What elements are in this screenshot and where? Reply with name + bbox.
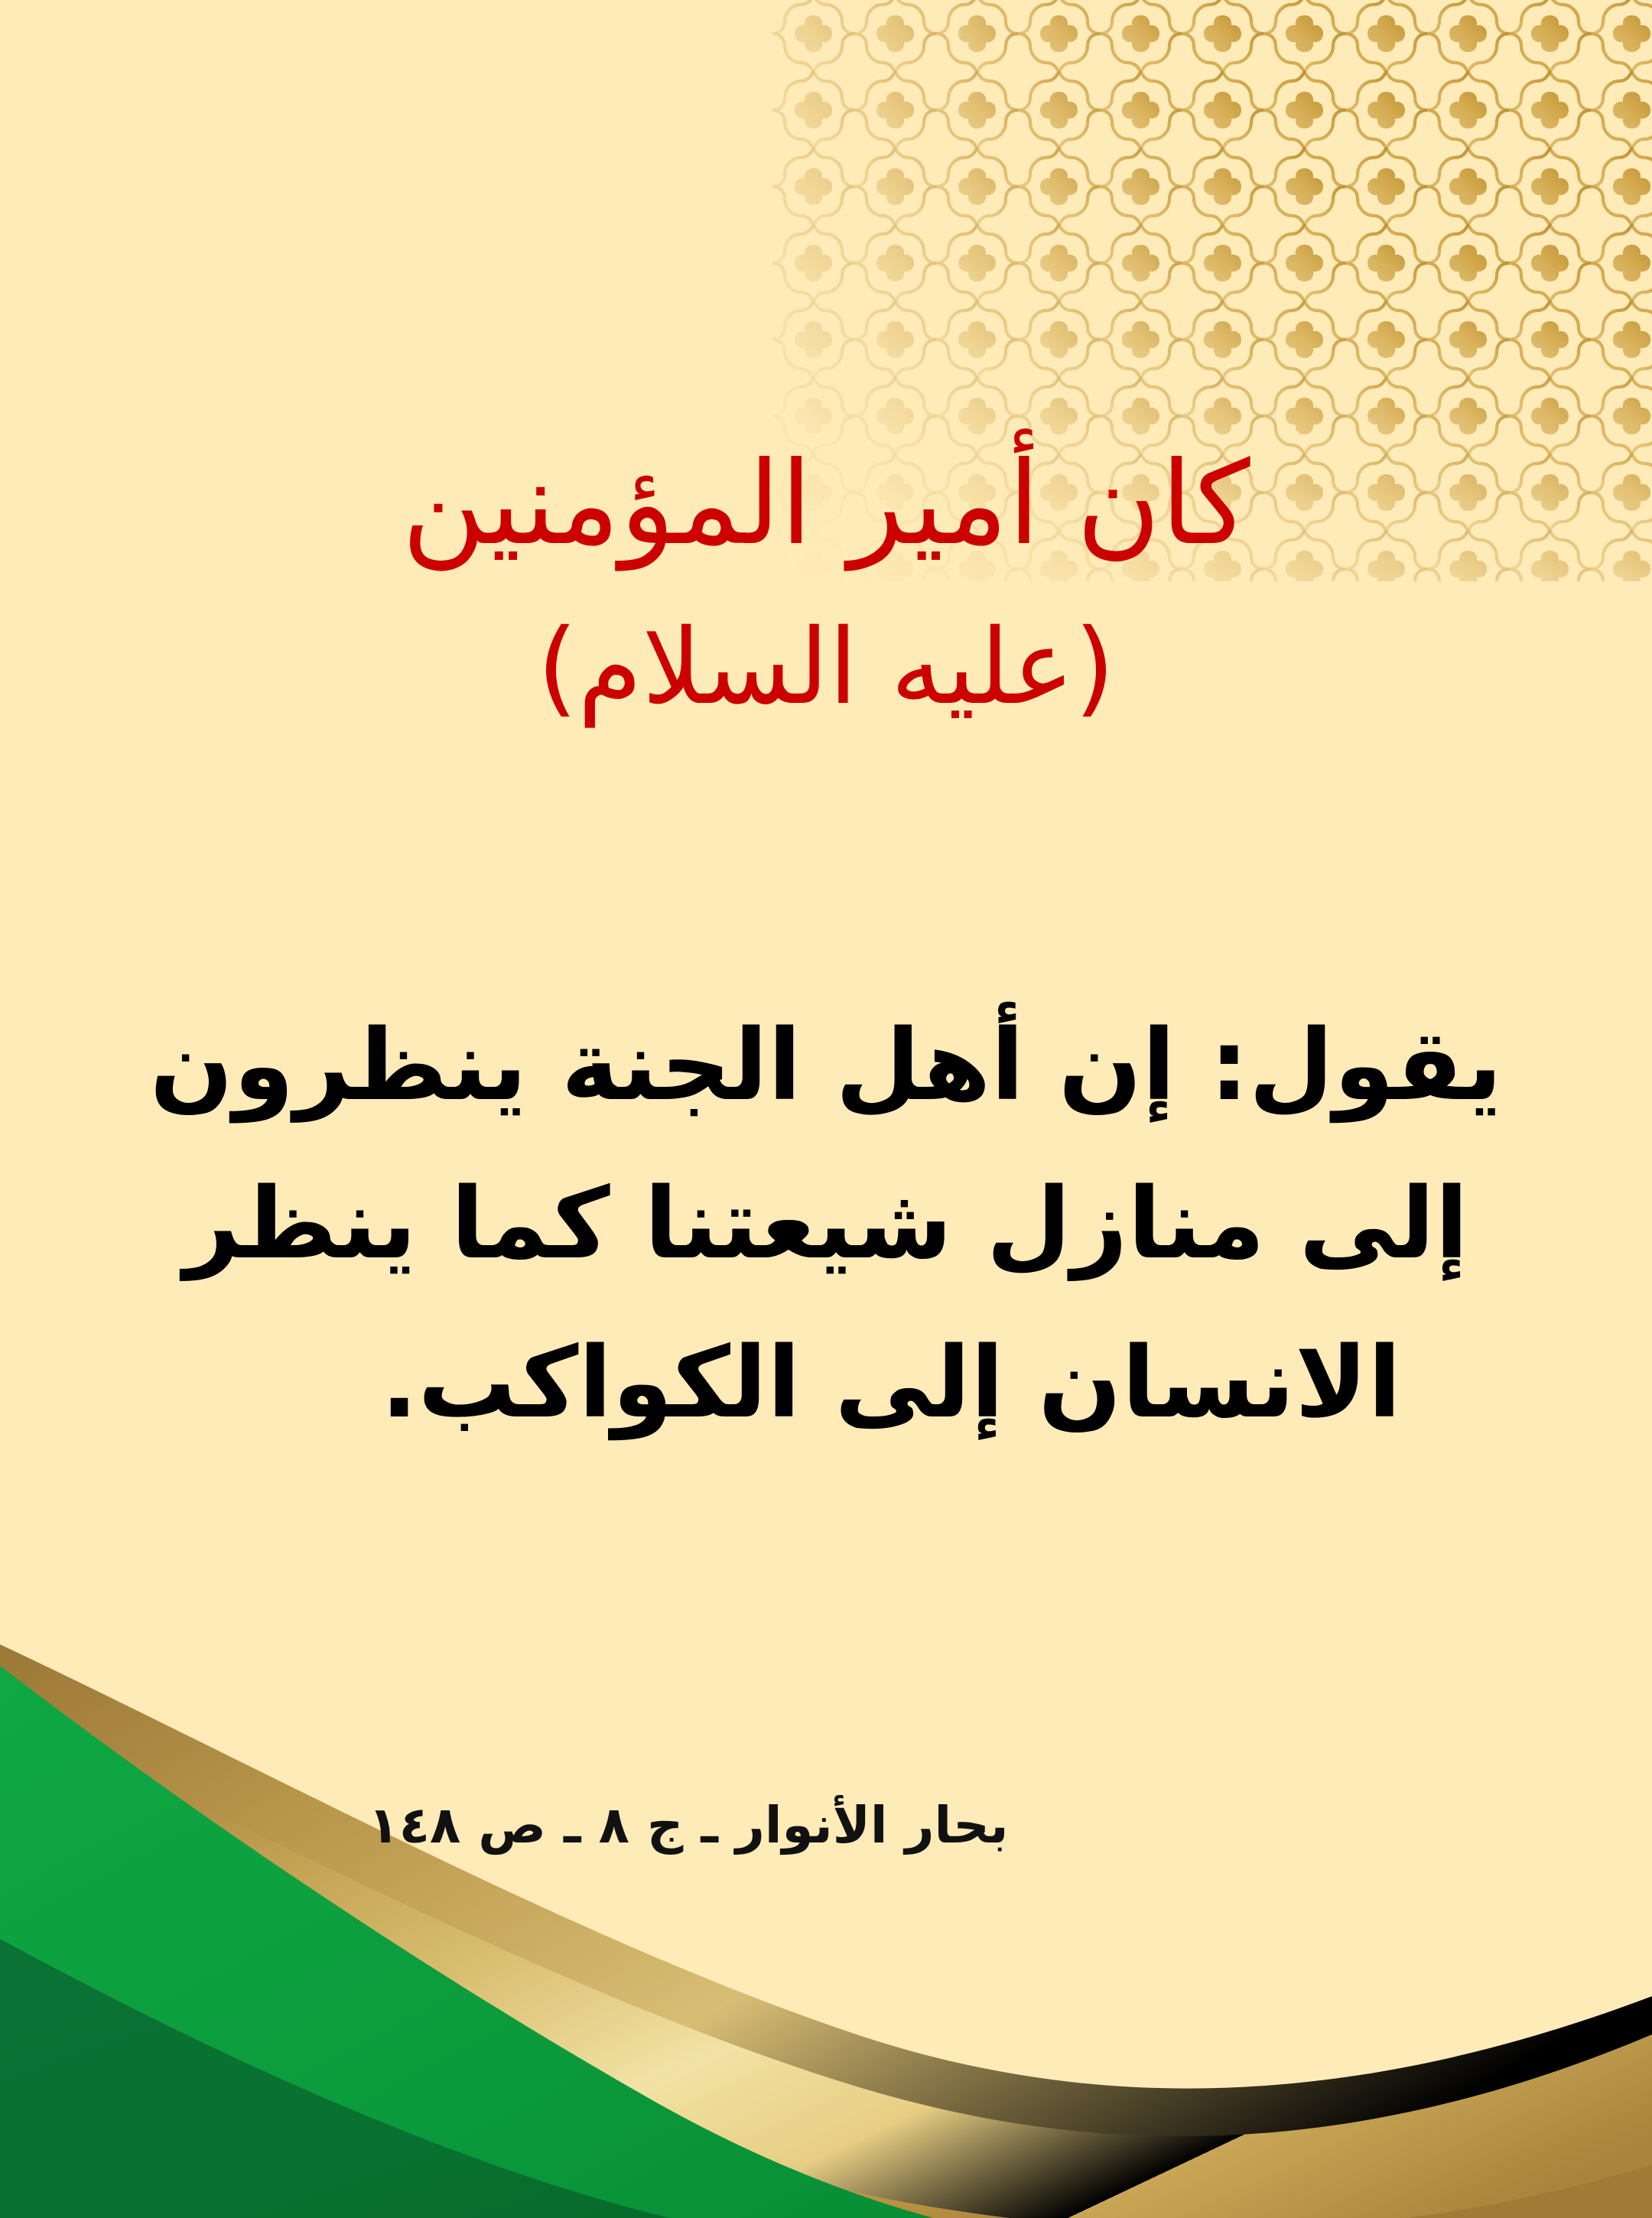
hadith-line-1: يقول: إن أهل الجنة ينظرون (84, 987, 1568, 1145)
hadith-line-2: إلى منازل شيعتنا كما ينظر (84, 1145, 1568, 1303)
heading-line-2: (عليه السلام) (0, 600, 1652, 737)
hadith-body-text: يقول: إن أهل الجنة ينظرون إلى منازل شيعت… (84, 987, 1568, 1462)
poster-heading: كان أمير المؤمنين (عليه السلام) (0, 428, 1652, 737)
hadith-poster: كان أمير المؤمنين (عليه السلام) يقول: إن… (0, 0, 1652, 2218)
poster-content: كان أمير المؤمنين (عليه السلام) يقول: إن… (0, 0, 1652, 2218)
source-citation: بحار الأنوار ـ ج ٨ ـ ص ١٤٨ (0, 1796, 1377, 1855)
heading-line-1: كان أمير المؤمنين (0, 428, 1652, 580)
hadith-line-3: الانسان إلى الكواكب. (84, 1304, 1568, 1462)
